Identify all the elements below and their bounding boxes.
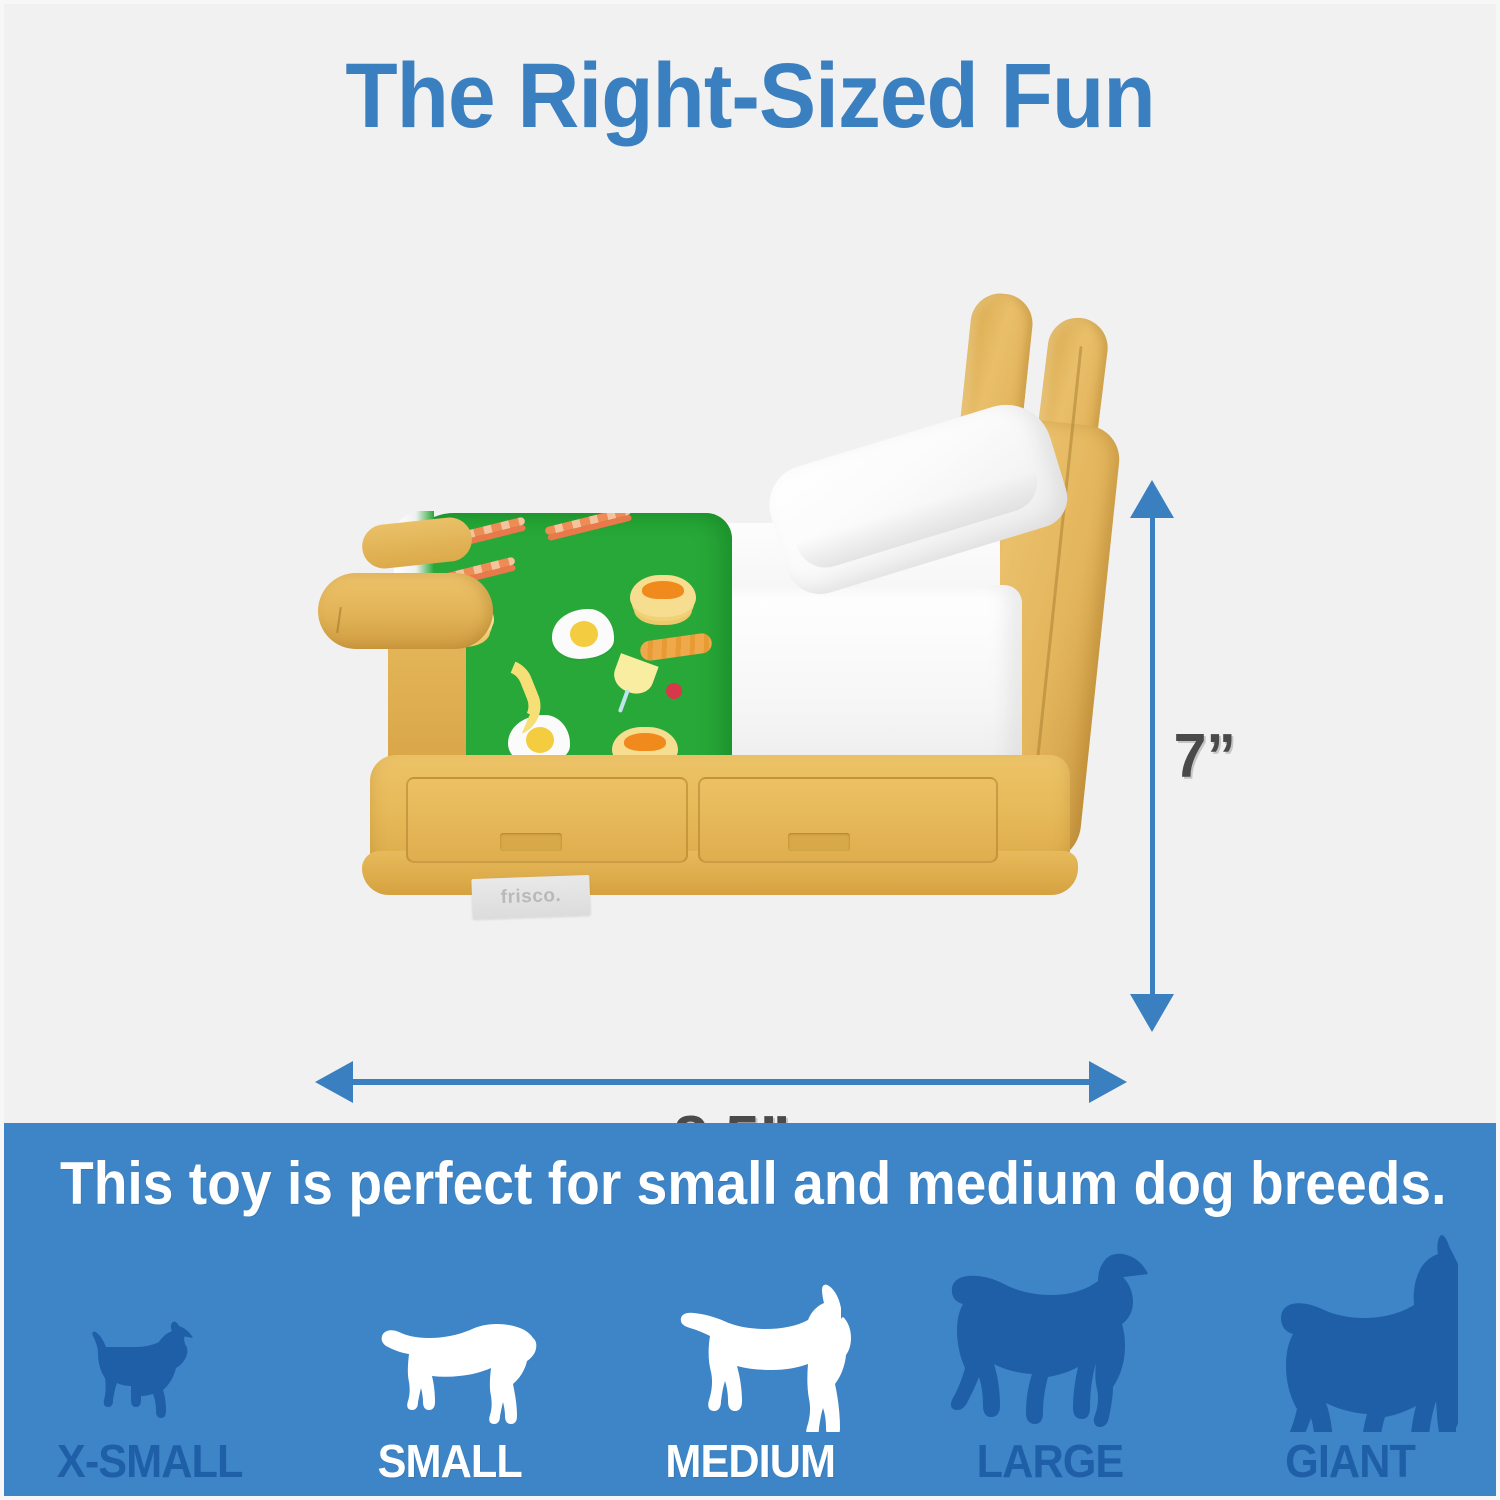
drawer-knob [500, 833, 562, 851]
pancake-motif-icon [630, 575, 696, 617]
fried-egg-motif-icon [552, 609, 614, 659]
dachshund-icon [355, 1247, 545, 1432]
fork-handle [318, 573, 493, 649]
size-option-giant[interactable]: GIANT [1200, 1238, 1500, 1488]
height-dimension-label: 7” [1174, 721, 1236, 792]
bull-terrier-icon [645, 1247, 855, 1432]
dog-size-scale: X-SMALL SMALL MEDIUM [0, 1238, 1500, 1488]
height-dimension-arrow [1143, 480, 1161, 1032]
bacon-motif-icon [544, 513, 631, 536]
plush-dog-bed-toy: frisco. [310, 285, 1130, 955]
brand-tag: frisco. [471, 875, 590, 919]
size-option-small[interactable]: SMALL [300, 1238, 600, 1488]
drawer-knob [788, 833, 850, 851]
cherry-motif-icon [666, 683, 682, 699]
size-label: MEDIUM [665, 1434, 835, 1488]
arrow-shaft [341, 1079, 1101, 1085]
golden-retriever-icon [940, 1247, 1160, 1432]
product-image-stage: frisco. 7” 8.5” [0, 190, 1500, 1090]
size-option-medium[interactable]: MEDIUM [600, 1238, 900, 1488]
size-option-x-small[interactable]: X-SMALL [0, 1238, 300, 1488]
size-option-large[interactable]: LARGE [900, 1238, 1200, 1488]
size-label: GIANT [1285, 1434, 1415, 1488]
arrow-head-right-icon [1089, 1061, 1127, 1103]
size-label: LARGE [977, 1434, 1124, 1488]
great-dane-icon [1243, 1247, 1458, 1432]
arrow-head-down-icon [1130, 994, 1174, 1032]
size-label: SMALL [378, 1434, 522, 1488]
arrow-shaft [1150, 506, 1155, 1006]
width-dimension-arrow [315, 1073, 1127, 1091]
sausage-motif-icon [639, 632, 713, 662]
page-title: The Right-Sized Fun [53, 44, 1448, 148]
size-label: X-SMALL [57, 1434, 243, 1488]
banner-headline: This toy is perfect for small and medium… [60, 1148, 1440, 1220]
chihuahua-icon [75, 1247, 225, 1432]
product-size-infographic: The Right-Sized Fun [0, 0, 1500, 1500]
